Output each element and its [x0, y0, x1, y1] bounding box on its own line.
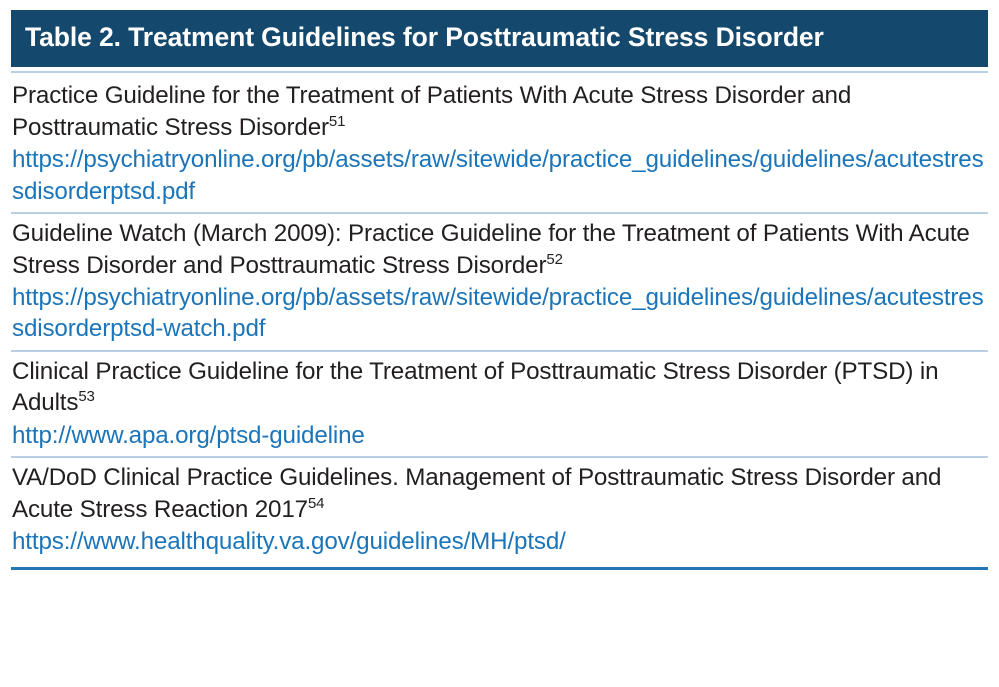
guideline-link[interactable]: https://www.healthquality.va.gov/guideli… — [11, 525, 988, 557]
reference-superscript: 51 — [329, 113, 345, 130]
guidelines-table: Table 2. Treatment Guidelines for Posttr… — [0, 0, 999, 687]
guideline-title-text: Practice Guideline for the Treatment of … — [12, 82, 851, 140]
reference-superscript: 53 — [78, 388, 94, 405]
table-row: Practice Guideline for the Treatment of … — [11, 76, 988, 212]
guideline-title-text: Clinical Practice Guideline for the Trea… — [12, 358, 938, 416]
reference-superscript: 52 — [546, 250, 562, 267]
guideline-title: Practice Guideline for the Treatment of … — [11, 79, 988, 143]
table-bottom-rule — [11, 567, 988, 570]
guideline-link[interactable]: https://psychiatryonline.org/pb/assets/r… — [11, 281, 988, 345]
table-row: Clinical Practice Guideline for the Trea… — [11, 350, 988, 456]
guideline-link[interactable]: http://www.apa.org/ptsd-guideline — [11, 419, 988, 451]
guideline-title: Clinical Practice Guideline for the Trea… — [11, 355, 988, 419]
guideline-title: Guideline Watch (March 2009): Practice G… — [11, 217, 988, 281]
table-top-rule — [11, 71, 988, 73]
table-title: Table 2. Treatment Guidelines for Posttr… — [11, 10, 988, 67]
table-body: Practice Guideline for the Treatment of … — [11, 67, 988, 569]
reference-superscript: 54 — [308, 495, 324, 512]
guideline-title: VA/DoD Clinical Practice Guidelines. Man… — [11, 461, 988, 525]
table-row: VA/DoD Clinical Practice Guidelines. Man… — [11, 456, 988, 562]
guideline-link[interactable]: https://psychiatryonline.org/pb/assets/r… — [11, 143, 988, 207]
table-row: Guideline Watch (March 2009): Practice G… — [11, 212, 988, 350]
guideline-title-text: Guideline Watch (March 2009): Practice G… — [12, 220, 970, 278]
guideline-title-text: VA/DoD Clinical Practice Guidelines. Man… — [12, 464, 941, 522]
